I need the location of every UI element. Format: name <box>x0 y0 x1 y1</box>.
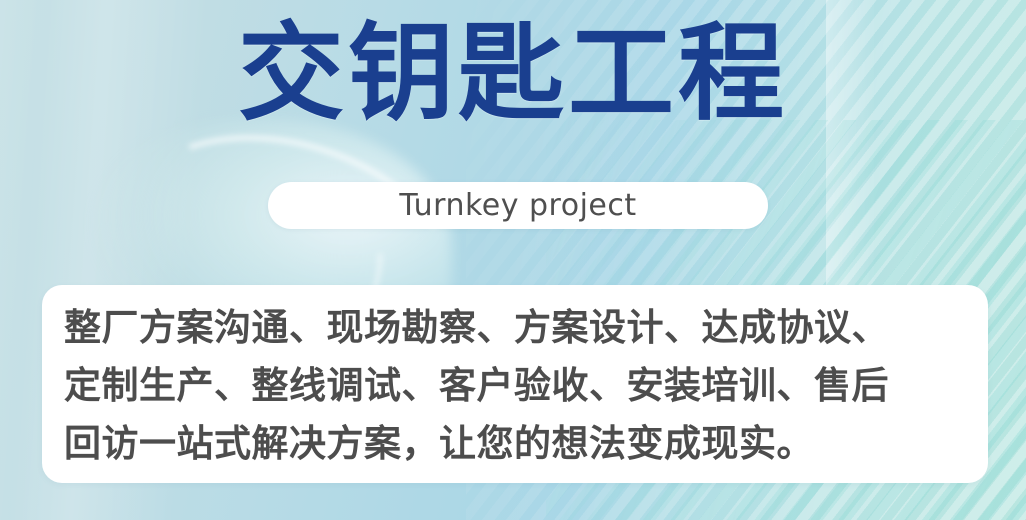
description-panel: 整厂方案沟通、现场勘察、方案设计、达成协议、 定制生产、整线调试、客户验收、安装… <box>42 285 988 483</box>
subtitle-text: Turnkey project <box>399 188 636 223</box>
description-line-3: 回访一站式解决方案，让您的想法变成现实。 <box>64 415 966 473</box>
description-line-2: 定制生产、整线调试、客户验收、安装培训、售后 <box>64 357 966 415</box>
description-line-1: 整厂方案沟通、现场勘察、方案设计、达成协议、 <box>64 299 966 357</box>
subtitle-pill: Turnkey project <box>268 182 768 229</box>
page-title: 交钥匙工程 <box>0 17 1026 131</box>
promo-banner: 交钥匙工程 Turnkey project 整厂方案沟通、现场勘察、方案设计、达… <box>0 0 1026 520</box>
